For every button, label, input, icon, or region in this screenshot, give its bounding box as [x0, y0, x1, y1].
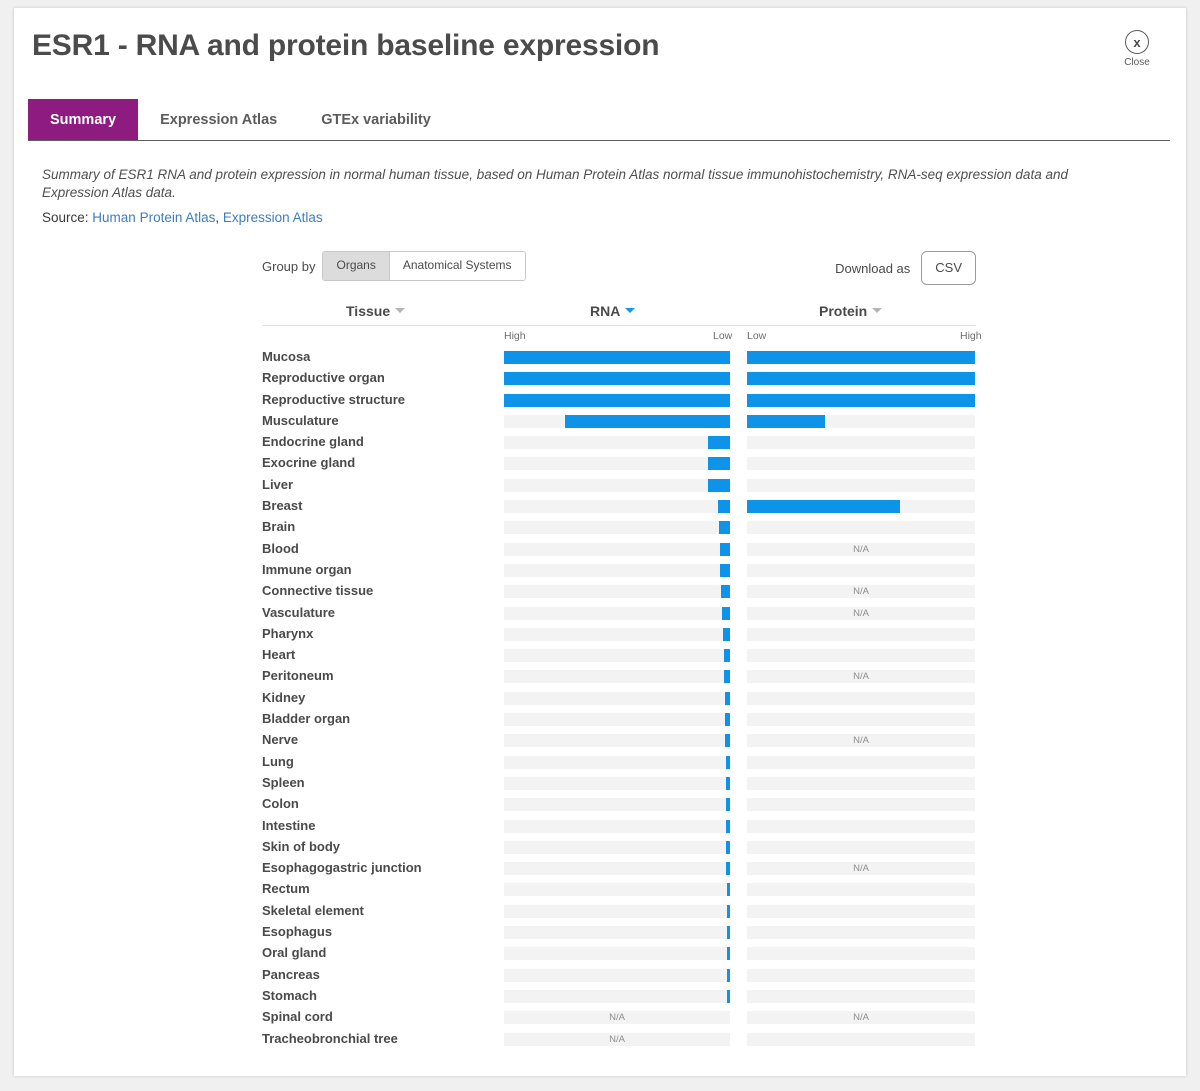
chevron-down-icon	[395, 308, 405, 313]
protein-track	[747, 883, 975, 896]
rna-bar	[565, 415, 730, 428]
rna-track	[504, 628, 730, 641]
rna-bar	[504, 394, 730, 407]
group-by-label: Group by	[262, 259, 315, 274]
rna-na-label: N/A	[504, 1033, 730, 1046]
rna-bar	[504, 372, 730, 385]
tissue-name: Colon	[262, 796, 299, 811]
column-header-protein[interactable]: Protein	[819, 303, 882, 319]
rna-bar	[720, 564, 730, 577]
rna-track	[504, 564, 730, 577]
protein-track: N/A	[747, 585, 975, 598]
table-row[interactable]: Spleen	[262, 773, 976, 794]
tissue-name: Rectum	[262, 881, 310, 896]
rna-bar	[708, 457, 730, 470]
table-row[interactable]: Brain	[262, 517, 976, 538]
chevron-down-icon	[872, 308, 882, 313]
tissue-name: Connective tissue	[262, 583, 373, 598]
table-row[interactable]: Colon	[262, 794, 976, 815]
chevron-down-icon	[625, 308, 635, 313]
table-row[interactable]: Kidney	[262, 688, 976, 709]
protein-track	[747, 457, 975, 470]
table-row[interactable]: Pancreas	[262, 965, 976, 986]
rna-track	[504, 820, 730, 833]
source-line: Source: Human Protein Atlas, Expression …	[42, 210, 323, 225]
column-header-rna[interactable]: RNA	[590, 303, 635, 319]
protein-track	[747, 436, 975, 449]
protein-bar	[747, 394, 975, 407]
rna-bar	[727, 905, 730, 918]
rna-bar	[724, 670, 730, 683]
tissue-name: Exocrine gland	[262, 455, 355, 470]
table-row[interactable]: Liver	[262, 475, 976, 496]
rna-bar	[727, 926, 730, 939]
rna-bar	[708, 479, 730, 492]
protein-track	[747, 521, 975, 534]
source-link-human-protein-atlas[interactable]: Human Protein Atlas	[92, 210, 215, 225]
protein-track	[747, 1033, 975, 1046]
rna-bar	[722, 607, 730, 620]
tissue-name: Spleen	[262, 775, 305, 790]
rna-bar	[721, 585, 730, 598]
protein-track	[747, 990, 975, 1003]
rna-na-label: N/A	[504, 1011, 730, 1024]
rna-track	[504, 457, 730, 470]
table-row[interactable]: Intestine	[262, 816, 976, 837]
table-row[interactable]: Exocrine gland	[262, 453, 976, 474]
protein-track	[747, 649, 975, 662]
tissue-name: Bladder organ	[262, 711, 350, 726]
tab-divider	[28, 140, 1170, 141]
rna-track	[504, 372, 730, 385]
table-row[interactable]: Pharynx	[262, 624, 976, 645]
protein-track: N/A	[747, 1011, 975, 1024]
protein-track	[747, 415, 975, 428]
column-header-protein-label: Protein	[819, 303, 867, 319]
scale-labels-row: High Low Low High	[262, 330, 976, 347]
rna-bar	[724, 649, 730, 662]
rna-bar	[720, 543, 730, 556]
rna-track: N/A	[504, 1011, 730, 1024]
table-row[interactable]: Immune organ	[262, 560, 976, 581]
table-row[interactable]: Esophagogastric junctionN/A	[262, 858, 976, 879]
protein-na-label: N/A	[747, 670, 975, 683]
protein-track: N/A	[747, 670, 975, 683]
rna-track	[504, 415, 730, 428]
table-row[interactable]: Endocrine gland	[262, 432, 976, 453]
tissue-name: Breast	[262, 498, 302, 513]
tissue-name: Mucosa	[262, 349, 310, 364]
rna-bar	[725, 734, 730, 747]
tissue-name: Pancreas	[262, 967, 320, 982]
table-row[interactable]: Lung	[262, 752, 976, 773]
protein-na-label: N/A	[747, 862, 975, 875]
protein-bar	[747, 372, 975, 385]
rna-track	[504, 777, 730, 790]
table-row[interactable]: Breast	[262, 496, 976, 517]
protein-scale-left-label: Low	[747, 330, 766, 342]
table-row[interactable]: BloodN/A	[262, 539, 976, 560]
rna-bar	[726, 862, 730, 875]
download-csv-button[interactable]: CSV	[921, 251, 976, 285]
rna-track	[504, 883, 730, 896]
rna-scale-left-label: High	[504, 330, 526, 342]
protein-track	[747, 756, 975, 769]
header-divider	[262, 325, 976, 326]
page-title: ESR1 - RNA and protein baseline expressi…	[32, 29, 659, 63]
rna-bar	[726, 841, 730, 854]
rna-track	[504, 692, 730, 705]
protein-na-label: N/A	[747, 607, 975, 620]
tissue-name: Reproductive structure	[262, 392, 405, 407]
rna-bar	[727, 990, 730, 1003]
rna-track	[504, 756, 730, 769]
tab-summary[interactable]: Summary	[28, 99, 138, 140]
rna-bar	[727, 969, 730, 982]
rna-track	[504, 585, 730, 598]
tab-bar: Summary Expression Atlas GTEx variabilit…	[28, 99, 453, 140]
protein-track	[747, 628, 975, 641]
protein-track	[747, 479, 975, 492]
rna-track	[504, 649, 730, 662]
protein-bar	[747, 351, 975, 364]
protein-track	[747, 500, 975, 513]
rna-bar	[718, 500, 730, 513]
table-row[interactable]: Stomach	[262, 986, 976, 1007]
protein-na-label: N/A	[747, 543, 975, 556]
protein-track	[747, 947, 975, 960]
tissue-name: Skeletal element	[262, 903, 364, 918]
table-row[interactable]: PeritoneumN/A	[262, 666, 976, 687]
table-row[interactable]: NerveN/A	[262, 730, 976, 751]
table-row[interactable]: Heart	[262, 645, 976, 666]
tissue-name: Esophagus	[262, 924, 332, 939]
table-row[interactable]: Connective tissueN/A	[262, 581, 976, 602]
column-header-tissue-label: Tissue	[346, 303, 390, 319]
tissue-name: Heart	[262, 647, 295, 662]
tissue-name: Intestine	[262, 818, 315, 833]
rna-bar	[708, 436, 730, 449]
tissue-name: Tracheobronchial tree	[262, 1031, 398, 1046]
tissue-name: Lung	[262, 754, 294, 769]
rna-track	[504, 670, 730, 683]
tissue-name: Oral gland	[262, 945, 326, 960]
rna-bar	[726, 756, 730, 769]
rna-bar	[719, 521, 730, 534]
rna-track	[504, 841, 730, 854]
group-by-option-organs[interactable]: Organs	[323, 252, 388, 280]
protein-na-label: N/A	[747, 585, 975, 598]
close-button[interactable]: x Close	[1107, 30, 1167, 69]
description-text: Summary of ESR1 RNA and protein expressi…	[42, 166, 1132, 202]
tissue-name: Esophagogastric junction	[262, 860, 422, 875]
download-control: Download as CSV	[835, 251, 976, 285]
rna-track: N/A	[504, 1033, 730, 1046]
source-prefix: Source:	[42, 210, 89, 225]
rna-track	[504, 607, 730, 620]
table-row[interactable]: Mucosa	[262, 347, 976, 368]
protein-na-label: N/A	[747, 1011, 975, 1024]
rna-track	[504, 798, 730, 811]
table-rows: MucosaReproductive organReproductive str…	[262, 347, 976, 1050]
protein-track	[747, 692, 975, 705]
table-row[interactable]: Bladder organ	[262, 709, 976, 730]
table-row[interactable]: Spinal cordN/AN/A	[262, 1007, 976, 1028]
table-row[interactable]: Esophagus	[262, 922, 976, 943]
rna-track	[504, 543, 730, 556]
protein-track	[747, 713, 975, 726]
table-row[interactable]: Tracheobronchial treeN/A	[262, 1029, 976, 1050]
protein-track: N/A	[747, 607, 975, 620]
rna-track	[504, 969, 730, 982]
rna-bar	[725, 713, 730, 726]
tissue-name: Vasculature	[262, 605, 335, 620]
protein-bar	[747, 500, 900, 513]
protein-scale-right-label: High	[960, 330, 982, 342]
tissue-name: Kidney	[262, 690, 305, 705]
protein-track	[747, 905, 975, 918]
rna-track	[504, 436, 730, 449]
tissue-name: Liver	[262, 477, 293, 492]
rna-track	[504, 500, 730, 513]
protein-track	[747, 820, 975, 833]
tissue-name: Reproductive organ	[262, 370, 385, 385]
protein-track: N/A	[747, 543, 975, 556]
rna-bar	[727, 883, 730, 896]
group-by-segmented-control: Organs Anatomical Systems	[322, 251, 525, 281]
tissue-name: Pharynx	[262, 626, 313, 641]
expression-table: Tissue RNA Protein High Low Low High Muc…	[262, 303, 976, 1050]
column-header-rna-label: RNA	[590, 303, 620, 319]
close-button-label: Close	[1107, 57, 1167, 69]
protein-track	[747, 926, 975, 939]
source-separator: ,	[215, 210, 223, 225]
tab-expression-atlas[interactable]: Expression Atlas	[138, 99, 299, 140]
rna-track	[504, 351, 730, 364]
protein-track	[747, 394, 975, 407]
rna-track	[504, 713, 730, 726]
source-link-expression-atlas[interactable]: Expression Atlas	[223, 210, 323, 225]
tissue-name: Blood	[262, 541, 299, 556]
rna-track	[504, 479, 730, 492]
table-row[interactable]: Musculature	[262, 411, 976, 432]
expression-card: ESR1 - RNA and protein baseline expressi…	[14, 8, 1186, 1076]
protein-track	[747, 564, 975, 577]
protein-track: N/A	[747, 862, 975, 875]
protein-track	[747, 841, 975, 854]
rna-bar	[726, 820, 730, 833]
group-by-option-anatomical-systems[interactable]: Anatomical Systems	[389, 252, 525, 280]
close-icon: x	[1125, 30, 1149, 54]
table-row[interactable]: Skeletal element	[262, 901, 976, 922]
protein-track	[747, 372, 975, 385]
group-by-control: Group by Organs Anatomical Systems	[262, 251, 526, 281]
rna-track	[504, 394, 730, 407]
protein-bar	[747, 415, 825, 428]
tissue-name: Brain	[262, 519, 295, 534]
rna-scale-right-label: Low	[713, 330, 732, 342]
tissue-name: Skin of body	[262, 839, 340, 854]
table-row[interactable]: VasculatureN/A	[262, 603, 976, 624]
tissue-name: Immune organ	[262, 562, 352, 577]
table-row[interactable]: Skin of body	[262, 837, 976, 858]
tissue-name: Musculature	[262, 413, 339, 428]
rna-track	[504, 990, 730, 1003]
protein-track	[747, 777, 975, 790]
download-label: Download as	[835, 261, 910, 276]
table-row[interactable]: Oral gland	[262, 943, 976, 964]
tab-gtex-variability[interactable]: GTEx variability	[299, 99, 453, 140]
protein-track: N/A	[747, 734, 975, 747]
column-header-tissue[interactable]: Tissue	[346, 303, 405, 319]
protein-track	[747, 351, 975, 364]
controls-row: Group by Organs Anatomical Systems Downl…	[262, 251, 976, 287]
table-row[interactable]: Reproductive organ	[262, 368, 976, 389]
protein-na-label: N/A	[747, 734, 975, 747]
rna-track	[504, 862, 730, 875]
protein-track	[747, 969, 975, 982]
tissue-name: Endocrine gland	[262, 434, 364, 449]
rna-track	[504, 947, 730, 960]
rna-bar	[725, 692, 730, 705]
rna-track	[504, 905, 730, 918]
rna-bar	[504, 351, 730, 364]
tissue-name: Spinal cord	[262, 1009, 333, 1024]
tissue-name: Stomach	[262, 988, 317, 1003]
table-row[interactable]: Reproductive structure	[262, 390, 976, 411]
rna-track	[504, 521, 730, 534]
rna-bar	[726, 798, 730, 811]
tissue-name: Nerve	[262, 732, 298, 747]
rna-track	[504, 926, 730, 939]
rna-bar	[723, 628, 730, 641]
rna-bar	[727, 947, 730, 960]
rna-track	[504, 734, 730, 747]
protein-track	[747, 798, 975, 811]
rna-bar	[726, 777, 730, 790]
table-column-headers: Tissue RNA Protein	[262, 303, 976, 325]
tissue-name: Peritoneum	[262, 668, 334, 683]
table-row[interactable]: Rectum	[262, 879, 976, 900]
